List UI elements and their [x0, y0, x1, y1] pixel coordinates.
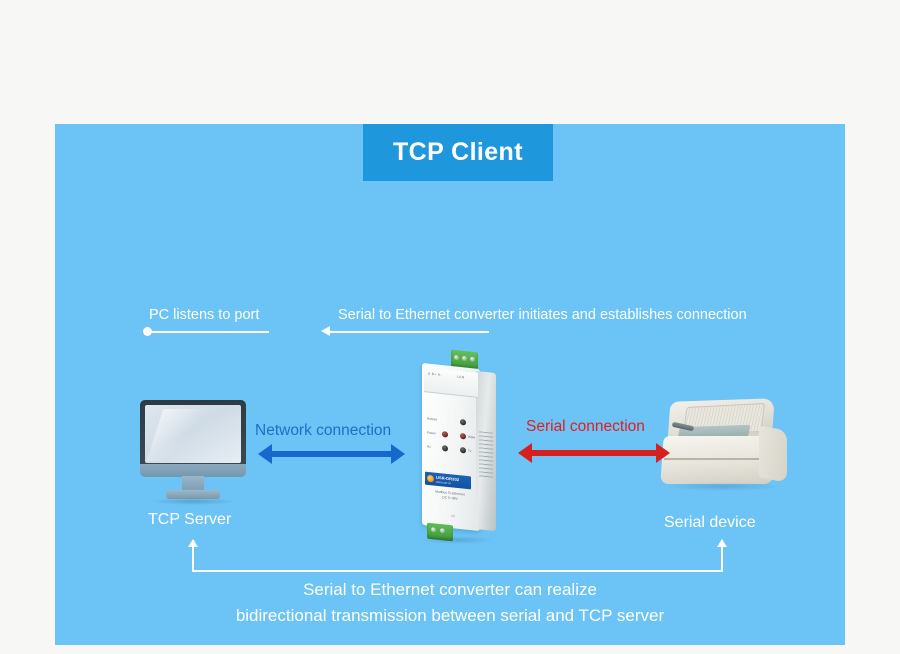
diagram-stage: TCP Client PC listens to port Serial to …	[0, 0, 900, 654]
printer-seam	[664, 458, 772, 460]
annotation-pc-listens-label: PC listens to port	[149, 307, 259, 323]
converter-led-panel: Reload Power Work Rx Tx	[426, 413, 476, 462]
converter-led-work	[460, 433, 466, 440]
converter-led-reload	[460, 419, 466, 426]
converter-led-label: Tx	[468, 449, 471, 453]
arrow-shaft	[268, 451, 395, 457]
device-serial-printer	[655, 400, 792, 500]
converter-subtitle-line2: DC 5~36V	[442, 495, 457, 501]
terminal-screw	[470, 357, 475, 363]
converter-led-rx	[442, 445, 448, 452]
diagram-panel: TCP Client PC listens to port Serial to …	[55, 124, 845, 645]
converter-led-label: Reload	[427, 416, 437, 421]
arrow-shaft	[528, 450, 660, 456]
arrow-head-right-icon	[656, 443, 670, 463]
annotation-converter-initiates-line	[328, 331, 489, 333]
converter-port-label-left: S B+ A-	[428, 372, 442, 377]
monitor-shadow	[150, 498, 236, 505]
converter-led-tx	[460, 447, 466, 454]
device-monitor	[140, 400, 246, 503]
converter-vents	[479, 431, 493, 478]
footer-caption: Serial to Ethernet converter can realize…	[55, 577, 845, 629]
connection-label-serial: Serial connection	[526, 418, 645, 436]
connection-label-network: Network connection	[255, 422, 391, 440]
converter-port-label-right: LAN	[457, 375, 465, 380]
connection-arrow-serial	[518, 443, 670, 463]
device-caption-tcp-server: TCP Server	[148, 511, 231, 529]
title-badge-label: TCP Client	[393, 138, 523, 167]
converter-led-label: Work	[468, 435, 475, 440]
converter-led-row: Rx Tx	[426, 441, 476, 458]
annotation-pc-listens-line	[146, 331, 269, 333]
terminal-screw	[431, 527, 436, 533]
footer-bracket	[192, 540, 723, 572]
converter-led-power	[442, 431, 448, 438]
device-caption-serial-device: Serial device	[664, 514, 756, 532]
converter-certification-mark: CE	[451, 514, 455, 518]
converter-brand-url: www.usr.cn	[436, 480, 451, 486]
terminal-screw	[462, 356, 467, 362]
bracket-arrow-up-right-icon	[717, 539, 727, 547]
converter-led-label: Rx	[427, 444, 431, 448]
footer-caption-line1: Serial to Ethernet converter can realize	[55, 577, 845, 603]
connection-arrow-network	[258, 444, 405, 464]
brand-logo-icon	[427, 475, 434, 483]
terminal-screw	[454, 355, 459, 361]
annotation-converter-initiates-label: Serial to Ethernet converter initiates a…	[338, 307, 747, 323]
bracket-bottom-bar	[192, 570, 723, 572]
monitor-screen-glint	[147, 409, 214, 461]
bracket-arrow-up-left-icon	[188, 539, 198, 547]
footer-caption-line2: bidirectional transmission between seria…	[55, 603, 845, 629]
printer-shadow	[665, 482, 781, 491]
arrow-head-right-icon	[391, 444, 405, 464]
monitor-screen	[145, 405, 241, 463]
monitor-bezel	[140, 400, 246, 472]
printer-right-side	[759, 426, 787, 483]
converter-led-label: Power	[427, 430, 436, 435]
terminal-screw	[440, 528, 445, 534]
title-badge: TCP Client	[363, 124, 553, 181]
device-serial-to-ethernet-converter: S B+ A- LAN Reload Power Work Rx	[413, 346, 505, 551]
